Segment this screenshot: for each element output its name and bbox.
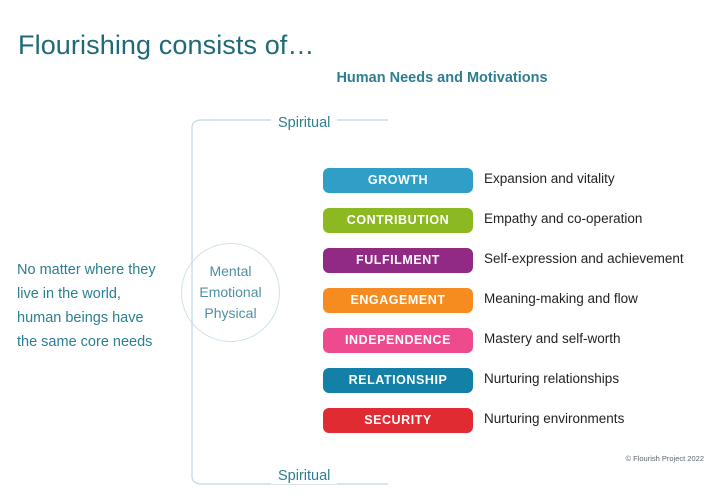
need-description-growth: Expansion and vitality	[484, 171, 615, 186]
need-description-relationship: Nurturing relationships	[484, 371, 619, 386]
page-title: Flourishing consists of…	[18, 30, 315, 61]
need-description-engagement: Meaning-making and flow	[484, 291, 638, 306]
need-description-fulfilment: Self-expression and achievement	[484, 251, 684, 266]
spiritual-top-label: Spiritual	[271, 115, 337, 131]
diagram-subtitle: Human Needs and Motivations	[322, 70, 562, 86]
need-description-security: Nurturing environments	[484, 411, 624, 426]
slide-canvas: Flourishing consists of… Human Needs and…	[0, 0, 720, 503]
copyright-notice: © Flourish Project 2022	[626, 454, 704, 463]
spiritual-bottom-label: Spiritual	[271, 468, 337, 484]
need-description-contribution: Empathy and co-operation	[484, 211, 642, 226]
need-description-independence: Mastery and self-worth	[484, 331, 621, 346]
core-needs-statement: No matter where they live in the world, …	[17, 258, 167, 354]
spiritual-bracket-icon	[190, 118, 390, 486]
